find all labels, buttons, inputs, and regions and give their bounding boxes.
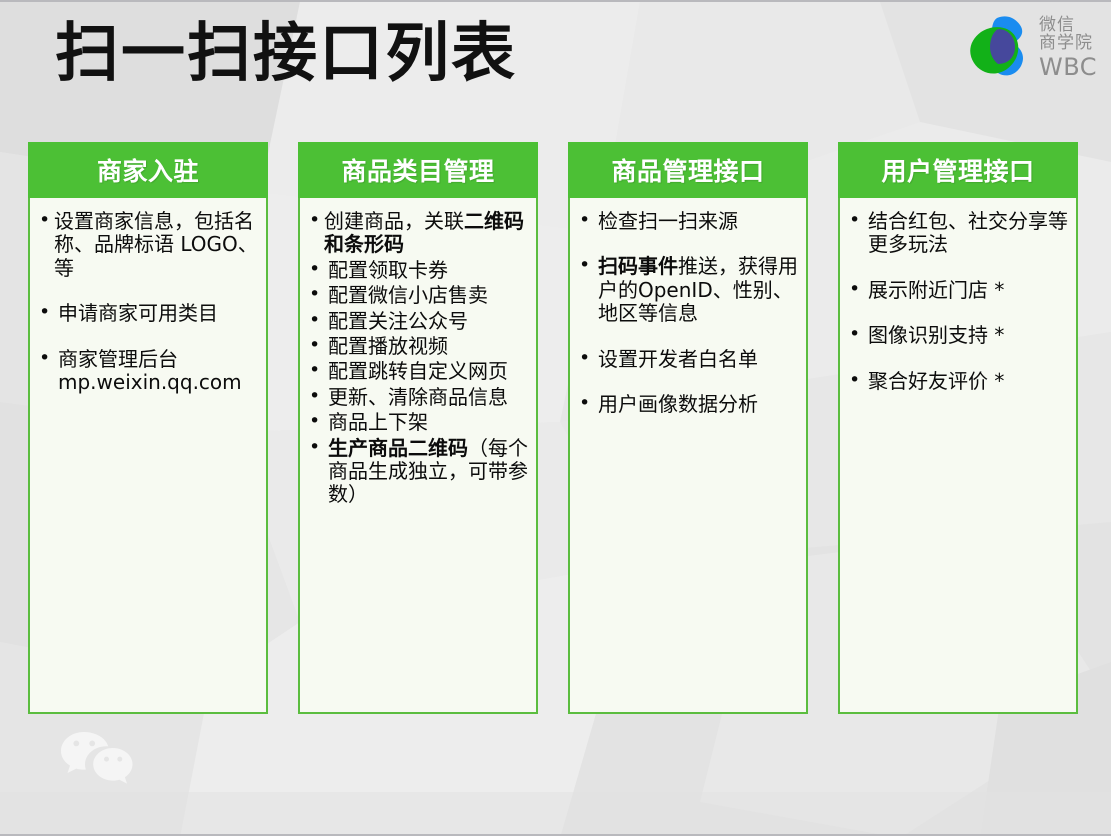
list-item: 检查扫一扫来源: [576, 210, 800, 233]
list-item: 生产商品二维码（每个商品生成独立，可带参数）: [306, 437, 530, 507]
list-item: 配置微信小店售卖: [306, 284, 530, 307]
list-item: 聚合好友评价 *: [846, 370, 1070, 393]
list-item: 配置领取卡券: [306, 259, 530, 282]
list-item: 配置关注公众号: [306, 310, 530, 333]
card-body-2: 创建商品，关联二维码和条形码 配置领取卡券 配置微信小店售卖 配置关注公众号 配…: [300, 198, 536, 712]
card-user-management-api: 用户管理接口 结合红包、社交分享等更多玩法 展示附近门店 * 图像识别支持 * …: [838, 142, 1078, 714]
wechat-logo-icon: [60, 730, 134, 792]
bullet-list-1: 设置商家信息，包括名称、品牌标语 LOGO、等 申请商家可用类目 商家管理后台 …: [36, 210, 260, 394]
card-merchant-onboarding: 商家入驻 设置商家信息，包括名称、品牌标语 LOGO、等 申请商家可用类目 商家…: [28, 142, 268, 714]
brand-line-3: WBC: [1039, 55, 1097, 81]
list-item: 结合红包、社交分享等更多玩法: [846, 210, 1070, 257]
card-body-3: 检查扫一扫来源 扫码事件推送，获得用户的OpenID、性别、地区等信息 设置开发…: [570, 198, 806, 712]
card-product-management-api: 商品管理接口 检查扫一扫来源 扫码事件推送，获得用户的OpenID、性别、地区等…: [568, 142, 808, 714]
card-body-4: 结合红包、社交分享等更多玩法 展示附近门店 * 图像识别支持 * 聚合好友评价 …: [840, 198, 1076, 712]
slide-canvas: 扫一扫接口列表 微信 商学院 WBC 商家入驻 设置商家信息，包括名称、品牌标语…: [0, 0, 1111, 836]
brand-logo: 微信 商学院 WBC: [963, 12, 1097, 84]
list-item: 用户画像数据分析: [576, 393, 800, 416]
card-header-2: 商品类目管理: [298, 142, 538, 198]
bullet-list-4: 结合红包、社交分享等更多玩法 展示附近门店 * 图像识别支持 * 聚合好友评价 …: [846, 210, 1070, 393]
card-header-1: 商家入驻: [28, 142, 268, 198]
list-item: 商家管理后台 mp.weixin.qq.com: [36, 348, 260, 395]
page-title: 扫一扫接口列表: [55, 16, 517, 93]
list-item: 创建商品，关联二维码和条形码: [306, 210, 530, 257]
list-item: 设置商家信息，包括名称、品牌标语 LOGO、等: [36, 210, 260, 280]
brand-line-2: 商学院: [1039, 34, 1097, 52]
card-body-1: 设置商家信息，包括名称、品牌标语 LOGO、等 申请商家可用类目 商家管理后台 …: [30, 198, 266, 712]
card-header-4: 用户管理接口: [838, 142, 1078, 198]
wbc-logo-icon: [963, 12, 1035, 84]
list-item: 图像识别支持 *: [846, 324, 1070, 347]
bullet-list-2: 创建商品，关联二维码和条形码 配置领取卡券 配置微信小店售卖 配置关注公众号 配…: [306, 210, 530, 507]
list-item: 配置播放视频: [306, 335, 530, 358]
list-item: 展示附近门店 *: [846, 279, 1070, 302]
list-item: 设置开发者白名单: [576, 348, 800, 371]
list-item: 更新、清除商品信息: [306, 386, 530, 409]
bullet-list-3: 检查扫一扫来源 扫码事件推送，获得用户的OpenID、性别、地区等信息 设置开发…: [576, 210, 800, 416]
list-item: 扫码事件推送，获得用户的OpenID、性别、地区等信息: [576, 255, 800, 325]
list-item: 商品上下架: [306, 411, 530, 434]
list-item: 配置跳转自定义网页: [306, 360, 530, 383]
brand-line-1: 微信: [1039, 16, 1097, 34]
card-product-category-management: 商品类目管理 创建商品，关联二维码和条形码 配置领取卡券 配置微信小店售卖 配置…: [298, 142, 538, 714]
card-header-3: 商品管理接口: [568, 142, 808, 198]
list-item: 申请商家可用类目: [36, 302, 260, 325]
interface-columns: 商家入驻 设置商家信息，包括名称、品牌标语 LOGO、等 申请商家可用类目 商家…: [28, 142, 1086, 714]
